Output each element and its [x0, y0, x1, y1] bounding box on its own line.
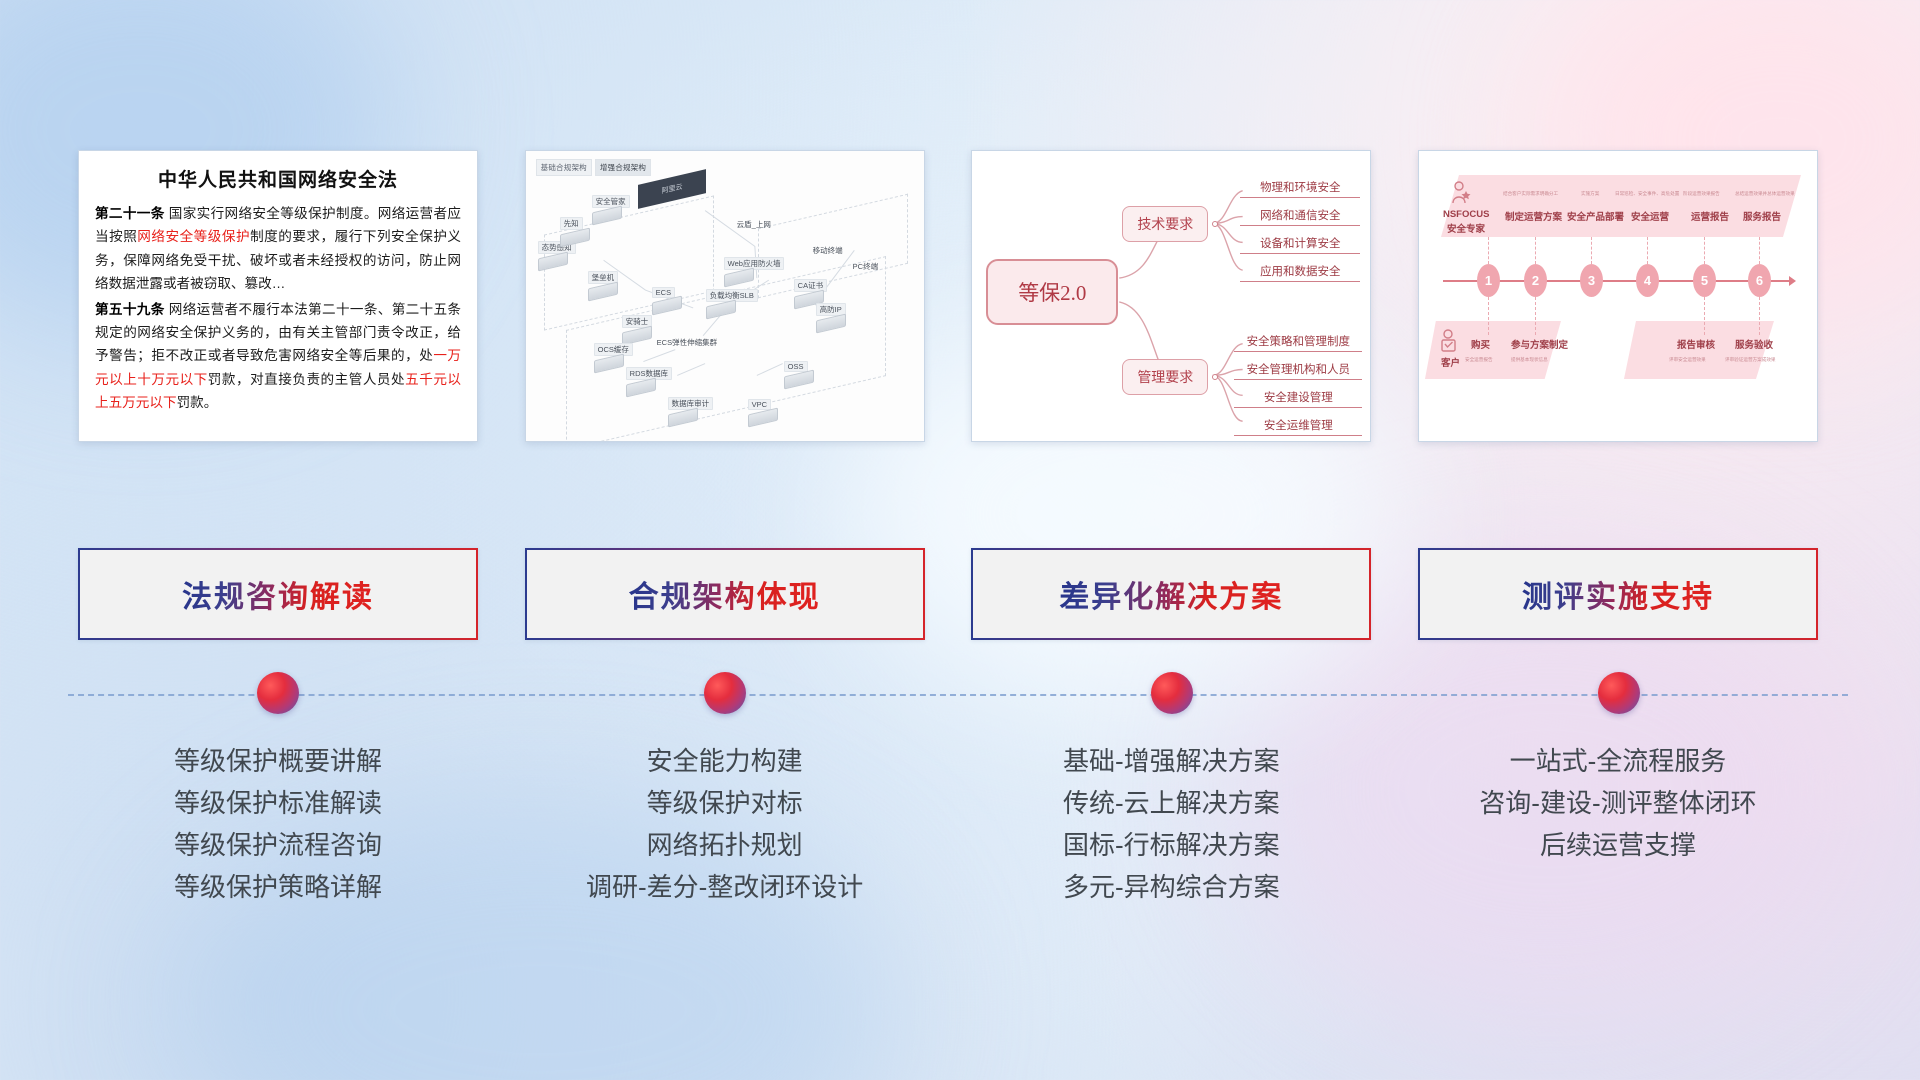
banner-row: 法规咨询解读 合规架构体现 差异化解决方案 测评实施支持	[78, 548, 1818, 640]
card-cybersecurity-law: 中华人民共和国网络安全法 第二十一条 国家实行网络安全等级保护制度。网络运营者应…	[78, 150, 478, 442]
nsfocus-tick-4	[1647, 237, 1648, 264]
nsfocus-step-2: 2	[1524, 264, 1547, 297]
node-bastion-host: 堡垒机	[588, 271, 619, 298]
law-article-59-text-b: 罚款，对直接负责的主管人员处	[208, 372, 405, 387]
mindmap-leaf-application-data: 应用和数据安全	[1240, 263, 1360, 282]
card-nsfocus-service-process: NSFOCUS 安全专家 结合客户实际需求明确分工 制定运营方案 实施方案 安全…	[1418, 150, 1818, 442]
law-article-21-highlight: 网络安全等级保护	[137, 229, 250, 244]
nsfocus-tick-down-5	[1704, 297, 1705, 335]
nsfocus-customer-label: 客户	[1441, 355, 1460, 369]
nsfocus-timeline: NSFOCUS 安全专家 结合客户实际需求明确分工 制定运营方案 实施方案 安全…	[1419, 151, 1817, 441]
mindmap-leaf-security-org-personnel: 安全管理机构和人员	[1234, 361, 1362, 380]
nsfocus-tick-3	[1591, 237, 1592, 264]
nsfocus-step-3: 3	[1580, 264, 1603, 297]
banner-label-1: 法规咨询解读	[182, 572, 374, 616]
mindmap-branch-management: 管理要求	[1122, 359, 1208, 395]
nsfocus-step-5: 5	[1693, 264, 1716, 297]
mindmap-root: 等保2.0	[986, 259, 1118, 325]
nsfocus-step-1: 1	[1477, 264, 1500, 297]
law-title: 中华人民共和国网络安全法	[95, 165, 461, 192]
list-item: 等级保护概要讲解	[174, 740, 382, 782]
mindmap-leaf-device-computing: 设备和计算安全	[1240, 235, 1360, 254]
law-article-21: 第二十一条 国家实行网络安全等级保护制度。网络运营者应当按照网络安全等级保护制度…	[95, 202, 461, 296]
banner-label-4: 测评实施支持	[1522, 572, 1714, 616]
list-item: 等级保护标准解读	[174, 782, 382, 824]
node-ca-certificate: CA证书	[794, 279, 827, 306]
mindmap-leaf-network-communication: 网络和通信安全	[1240, 207, 1360, 226]
nsfocus-brand-line1: NSFOCUS	[1443, 209, 1489, 220]
timeline-dot-2[interactable]	[704, 672, 746, 714]
law-article-59: 第五十九条 网络运营者不履行本法第二十一条、第二十五条规定的网络安全保护义务的，…	[95, 298, 461, 415]
list-item: 多元-异构综合方案	[1063, 866, 1280, 908]
banner-regulatory-consulting[interactable]: 法规咨询解读	[78, 548, 478, 640]
list-item: 咨询-建设-测评整体闭环	[1479, 782, 1756, 824]
nsfocus-bottom-title-1: 购买	[1471, 337, 1490, 351]
nsfocus-tick-down-2	[1535, 297, 1536, 335]
card-dengbao-mindmap: 等保2.0 技术要求 物理和环境安全 网络和通信安全 设备和计算安全 应用和数据…	[971, 150, 1371, 442]
feature-list-3: 基础-增强解决方案 传统-云上解决方案 国标-行标解决方案 多元-异构综合方案	[971, 740, 1371, 970]
node-vpc: VPC	[748, 399, 778, 424]
mindmap-leaf-security-construction: 安全建设管理	[1234, 389, 1362, 408]
node-slb: 负载均衡SLB	[706, 289, 758, 316]
node-ecs-autoscaling: ECS弹性伸缩集群	[654, 337, 720, 348]
node-waf: Web应用防火墙	[724, 257, 785, 284]
nsfocus-top-title-1: 制定运营方案	[1505, 209, 1562, 223]
nsfocus-top-title-2: 安全产品部署	[1567, 209, 1624, 223]
nsfocus-bottom-title-3: 报告审核	[1677, 337, 1715, 351]
nsfocus-step-4: 4	[1636, 264, 1659, 297]
banner-compliance-architecture[interactable]: 合规架构体现	[525, 548, 925, 640]
list-item: 传统-云上解决方案	[1063, 782, 1280, 824]
nsfocus-bottom-title-4: 服务验收	[1735, 337, 1773, 351]
list-item: 等级保护流程咨询	[174, 824, 382, 866]
nsfocus-top-sub-3: 日常巡检、安全事件、高危处置	[1615, 191, 1679, 197]
banner-differentiated-solution[interactable]: 差异化解决方案	[971, 548, 1371, 640]
nsfocus-bottom-sub-1: 安全运营报告	[1465, 357, 1493, 363]
illustration-cards-row: 中华人民共和国网络安全法 第二十一条 国家实行网络安全等级保护制度。网络运营者应…	[78, 150, 1818, 442]
nsfocus-top-sub-5: 总结运营效果并总体运营效果	[1735, 191, 1795, 197]
nsfocus-step-6: 6	[1748, 264, 1771, 297]
banner-label-2: 合规架构体现	[629, 572, 821, 616]
node-ecs: ECS	[652, 287, 682, 312]
timeline-dot-1[interactable]	[257, 672, 299, 714]
mindmap-leaf-security-policy: 安全策略和管理制度	[1234, 333, 1362, 352]
list-item: 安全能力构建	[647, 740, 803, 782]
nsfocus-top-sub-1: 结合客户实际需求明确分工	[1503, 191, 1558, 197]
nsfocus-tick-5	[1704, 237, 1705, 264]
node-database-audit: 数据库审计	[668, 397, 714, 424]
nsfocus-top-title-4: 运营报告	[1691, 209, 1729, 223]
law-document: 中华人民共和国网络安全法 第二十一条 国家实行网络安全等级保护制度。网络运营者应…	[79, 151, 477, 424]
law-article-59-label: 第五十九条	[95, 302, 165, 317]
list-item: 调研-差分-整改闭环设计	[586, 866, 863, 908]
node-ocs-cache: OCS缓存	[594, 343, 633, 370]
list-item: 等级保护对标	[647, 782, 803, 824]
node-security-butler: 安全管家	[592, 195, 630, 222]
node-anti-ddos-ip: 高防IP	[816, 303, 846, 330]
banner-assessment-support[interactable]: 测评实施支持	[1418, 548, 1818, 640]
mindmap-leaf-physical-environment: 物理和环境安全	[1240, 179, 1360, 198]
nsfocus-tick-down-6	[1759, 297, 1760, 335]
nsfocus-bottom-sub-4: 评审验证运营方案成效果	[1725, 357, 1776, 363]
list-item: 网络拓扑规划	[647, 824, 803, 866]
feature-list-2: 安全能力构建 等级保护对标 网络拓扑规划 调研-差分-整改闭环设计	[525, 740, 925, 970]
timeline-dot-3[interactable]	[1151, 672, 1193, 714]
node-mobile-terminal: 移动终端	[810, 245, 846, 256]
nsfocus-top-sub-4: 阶段运营效果报告	[1683, 191, 1720, 197]
node-pc-terminal: PC终端	[850, 261, 881, 272]
nsfocus-bottom-sub-2: 提供基本现状信息	[1511, 357, 1548, 363]
nsfocus-brand-line2: 安全专家	[1447, 221, 1485, 235]
timeline-dot-4[interactable]	[1598, 672, 1640, 714]
nsfocus-axis-arrow	[1789, 276, 1796, 286]
nsfocus-tick-down-1	[1488, 297, 1489, 335]
node-oss: OSS	[784, 361, 814, 386]
architecture-diagram: 基础合规架构 增强合规架构 阿里云	[526, 151, 924, 441]
mindmap: 等保2.0 技术要求 物理和环境安全 网络和通信安全 设备和计算安全 应用和数据…	[972, 151, 1370, 441]
nsfocus-top-sub-2: 实施方案	[1581, 191, 1599, 197]
nsfocus-tick-6	[1759, 237, 1760, 264]
list-item: 国标-行标解决方案	[1063, 824, 1280, 866]
card-compliance-architecture: 基础合规架构 增强合规架构 阿里云	[525, 150, 925, 442]
nsfocus-top-title-5: 服务报告	[1743, 209, 1781, 223]
nsfocus-bottom-sub-3: 评审安全运营效果	[1669, 357, 1706, 363]
law-article-59-text-c: 罚款。	[177, 395, 218, 410]
nsfocus-top-title-3: 安全运营	[1631, 209, 1669, 223]
nsfocus-tick-1	[1488, 237, 1489, 264]
node-anqishi: 安骑士	[622, 315, 653, 342]
node-xianzhi: 先知	[560, 217, 590, 244]
banner-label-3: 差异化解决方案	[1059, 572, 1283, 616]
mindmap-leaf-security-operations: 安全运维管理	[1234, 417, 1362, 436]
nsfocus-tick-2	[1535, 237, 1536, 264]
timeline-dots	[78, 672, 1818, 716]
security-expert-icon	[1451, 181, 1473, 205]
customer-icon	[1439, 329, 1459, 353]
law-article-21-label: 第二十一条	[95, 206, 165, 221]
list-item: 后续运营支撑	[1540, 824, 1696, 866]
feature-list-1: 等级保护概要讲解 等级保护标准解读 等级保护流程咨询 等级保护策略详解	[78, 740, 478, 970]
feature-list-4: 一站式-全流程服务 咨询-建设-测评整体闭环 后续运营支撑	[1418, 740, 1818, 970]
nsfocus-bottom-title-2: 参与方案制定	[1511, 337, 1568, 351]
list-item: 基础-增强解决方案	[1063, 740, 1280, 782]
node-rds-database: RDS数据库	[626, 367, 672, 394]
list-item: 一站式-全流程服务	[1510, 740, 1727, 782]
nsfocus-vendor-band	[1441, 175, 1801, 237]
list-item: 等级保护策略详解	[174, 866, 382, 908]
mindmap-branch-technical: 技术要求	[1122, 206, 1208, 242]
feature-lists-row: 等级保护概要讲解 等级保护标准解读 等级保护流程咨询 等级保护策略详解 安全能力…	[78, 740, 1818, 970]
node-cloud-shield: 云盾_上网	[734, 219, 774, 230]
